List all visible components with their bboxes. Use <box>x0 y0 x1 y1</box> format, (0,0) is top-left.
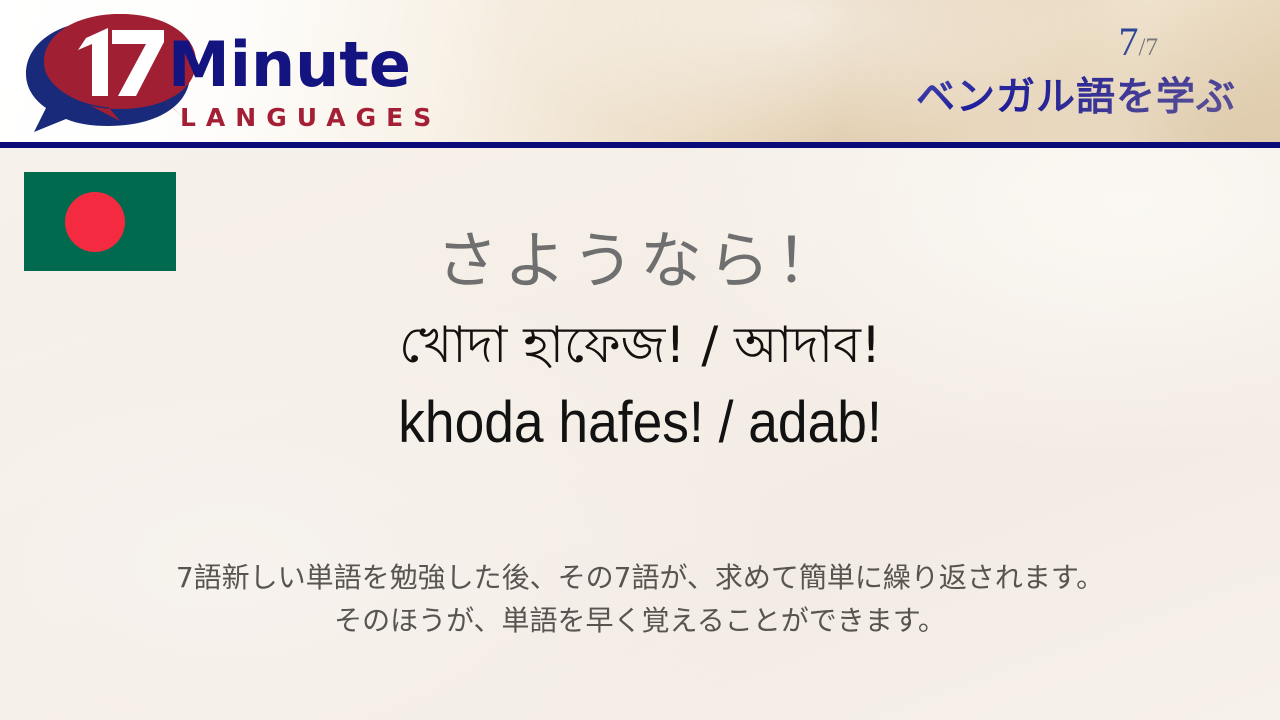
header-bar: Minute LANGUAGES 7 /7 ベンガル語を学ぶ <box>0 0 1280 142</box>
vocab-target-script: খোদা হাফেজ! / আদাব! <box>0 317 1280 375</box>
vocab-native-text: さようなら！ <box>0 228 1280 293</box>
footnote-line-2: そのほうが、単語を早く覚えることができます。 <box>0 599 1280 642</box>
footnote-line-1: 7語新しい単語を勉強した後、その7語が、求めて簡単に繰り返されます。 <box>0 556 1280 599</box>
page-counter: 7 /7 <box>1119 22 1158 62</box>
logo-word-languages: LANGUAGES <box>180 103 441 132</box>
header-divider <box>0 142 1280 148</box>
vocab-card: さようなら！ খোদা হাফেজ! / আদাব! khoda hafes! … <box>0 150 1280 454</box>
brand-logo: Minute LANGUAGES <box>8 8 458 136</box>
slide-root: Minute LANGUAGES 7 /7 ベンガル語を学ぶ さようなら！ খো… <box>0 0 1280 720</box>
page-counter-total: /7 <box>1139 35 1158 60</box>
vocab-romanization: khoda hafes! / adab! <box>51 391 1229 455</box>
page-title: ベンガル語を学ぶ <box>916 78 1236 117</box>
footnote-block: 7語新しい単語を勉強した後、その7語が、求めて簡単に繰り返されます。 そのほうが… <box>0 556 1280 642</box>
logo-word-minute: Minute <box>168 28 411 101</box>
page-counter-current: 7 <box>1119 22 1138 62</box>
